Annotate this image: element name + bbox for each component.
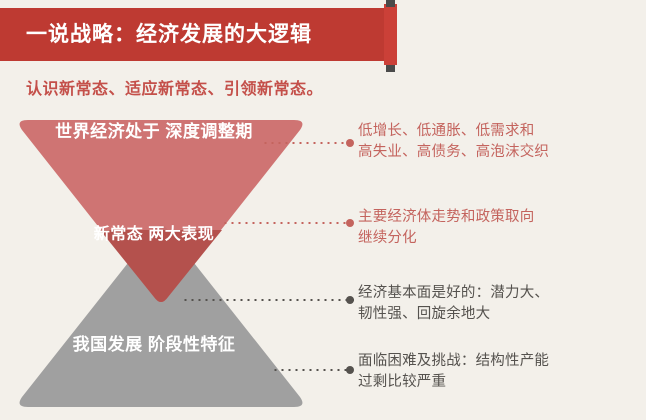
annotation-2-line1: 主要经济体走势和政策取向: [358, 207, 534, 228]
triangle-label-top-line2: 深度调整期: [165, 122, 253, 141]
connector-dots-4: [272, 368, 354, 372]
connector-line-3: [182, 296, 354, 304]
connector-end-dot-2: [346, 219, 354, 227]
header-ribbon: 一说战略：经济发展的大逻辑: [0, 8, 392, 61]
annotation-4-line2: 过剩比较严重: [358, 372, 549, 393]
annotation-2: 主要经济体走势和政策取向 继续分化: [358, 207, 534, 249]
infographic-root: 一说战略：经济发展的大逻辑 认识新常态、适应新常态、引领新常态。 世界经济处于 …: [0, 0, 646, 420]
triangle-label-bottom-line2: 阶段性特征: [148, 335, 236, 354]
ribbon-tab-bottom-icon: [386, 65, 395, 72]
connector-end-dot-4: [346, 366, 354, 374]
annotation-1: 低增长、低通胀、低需求和 高失业、高债务、高泡沫交织: [358, 121, 549, 163]
ribbon-end-bar: [384, 4, 397, 65]
triangle-label-middle: 新常态 两大表现: [0, 226, 308, 245]
annotation-4-line1: 面临困难及挑战：结构性产能: [358, 351, 549, 372]
annotation-2-line2: 继续分化: [358, 228, 534, 249]
connector-dots-1: [262, 141, 354, 145]
connector-dots-3: [182, 298, 354, 302]
triangle-label-middle-line1: 新常态: [94, 226, 144, 243]
annotation-4: 面临困难及挑战：结构性产能 过剩比较严重: [358, 351, 549, 393]
subtitle: 认识新常态、适应新常态、引领新常态。: [26, 75, 323, 99]
connector-end-dot-3: [346, 296, 354, 304]
triangle-label-middle-line2: 两大表现: [148, 226, 214, 243]
connector-line-2: [222, 219, 354, 227]
triangle-label-bottom-line1: 我国发展: [73, 335, 143, 354]
connector-end-dot-1: [346, 139, 354, 147]
annotation-1-line2: 高失业、高债务、高泡沫交织: [358, 142, 549, 163]
connector-line-1: [262, 139, 354, 147]
triangle-label-top-line1: 世界经济处于: [55, 122, 160, 141]
annotation-1-line1: 低增长、低通胀、低需求和: [358, 121, 549, 142]
connector-line-4: [272, 366, 354, 374]
annotation-3-line1: 经济基本面是好的：潜力大、: [358, 283, 549, 304]
ribbon-tab-top-icon: [386, 0, 395, 7]
annotation-3-line2: 韧性强、回旋余地大: [358, 304, 549, 325]
connector-dots-2: [222, 221, 354, 225]
triangle-label-bottom: 我国发展 阶段性特征: [0, 335, 308, 355]
annotation-3: 经济基本面是好的：潜力大、 韧性强、回旋余地大: [358, 283, 549, 325]
page-title: 一说战略：经济发展的大逻辑: [26, 8, 312, 61]
